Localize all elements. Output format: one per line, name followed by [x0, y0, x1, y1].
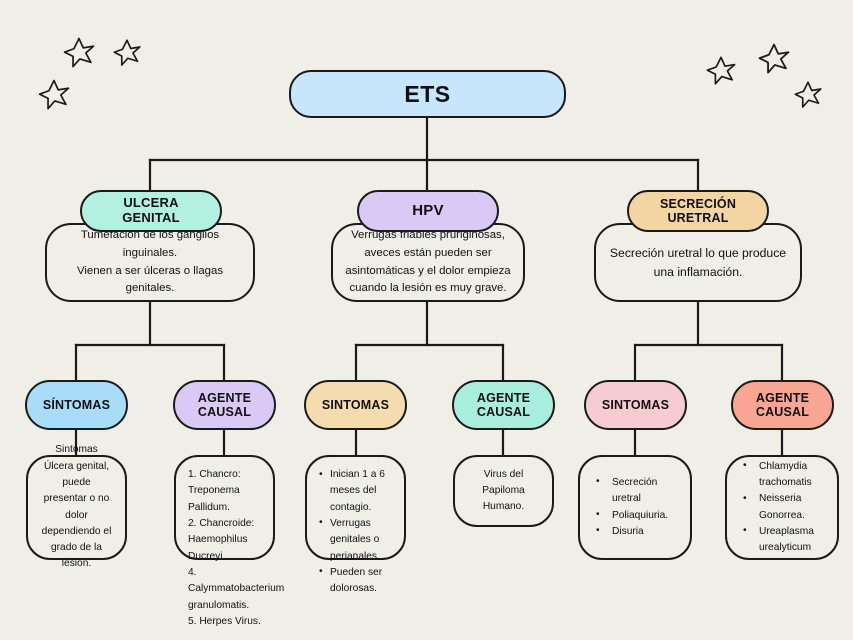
list-item: Verrugas genitales o perianales. [319, 516, 392, 565]
child-node-sintomas-hpv[interactable]: SINTOMAS [304, 380, 407, 430]
detail-box-sintomas-hpv: Inician 1 a 6 meses del contagio. Verrug… [305, 455, 406, 560]
child-node-label: AGENTE CAUSAL [756, 391, 809, 420]
branch-node-secrecion-uretral[interactable]: SECRECIÓN URETRAL [627, 190, 769, 232]
mindmap-canvas: ETS Tumefación de los ganglios inguinale… [0, 0, 853, 640]
star-outline-icon [793, 80, 823, 110]
detail-box-agente-causal-secrecion: Chlamydia trachomatis Neisseria Gonorrea… [725, 455, 839, 560]
list-item: Secreción uretral [592, 475, 678, 508]
child-node-sintomas-secrecion[interactable]: SINTOMAS [584, 380, 687, 430]
child-node-label: AGENTE CAUSAL [198, 391, 251, 420]
branch-node-hpv[interactable]: HPV [357, 190, 499, 232]
branch-node-ulcera-genital[interactable]: ULCERA GENITAL [80, 190, 222, 232]
detail-box-agente-causal-ulcera: 1. Chancro: Treponema Pallidum. 2. Chanc… [174, 455, 275, 560]
child-node-agente-causal-hpv[interactable]: AGENTE CAUSAL [452, 380, 555, 430]
star-outline-icon [62, 36, 96, 70]
detail-box-agente-causal-hpv: Virus del Papiloma Humano. [453, 455, 554, 527]
list-item: 5. Herpes Virus. [188, 614, 261, 630]
list-item: Poliaquiuria. [592, 508, 678, 524]
list-item: 1. Chancro: Treponema Pallidum. [188, 467, 261, 516]
star-outline-icon [705, 55, 737, 87]
list-item: Disuria [592, 524, 678, 540]
branch-description-text: Verrugas friables pruriginosas, aveces e… [345, 227, 511, 298]
branch-node-label: ULCERA GENITAL [122, 196, 180, 226]
root-node-ets[interactable]: ETS [289, 70, 566, 118]
agent-list-ulcera: 1. Chancro: Treponema Pallidum. 2. Chanc… [188, 467, 261, 630]
child-node-label: SÍNTOMAS [43, 398, 110, 412]
child-node-label: SINTOMAS [322, 398, 389, 412]
detail-box-sintomas-ulcera: Sintomas Úlcera genital, puede presentar… [26, 455, 127, 560]
star-outline-icon [37, 78, 71, 112]
child-node-sintomas-ulcera[interactable]: SÍNTOMAS [25, 380, 128, 430]
list-item: Pueden ser dolorosas. [319, 565, 392, 598]
list-item: Neisseria Gonorrea. [739, 491, 825, 524]
symptom-list-secrecion: Secreción uretral Poliaquiuria. Disuria [592, 475, 678, 540]
child-node-label: SINTOMAS [602, 398, 669, 412]
branch-description-secrecion-uretral: Secreción uretral lo que produce una inf… [594, 223, 802, 302]
detail-text: Sintomas Úlcera genital, puede presentar… [42, 444, 112, 569]
root-node-label: ETS [404, 81, 450, 108]
star-outline-icon [757, 42, 791, 76]
branch-node-label: SECRECIÓN URETRAL [660, 197, 736, 226]
detail-box-sintomas-secrecion: Secreción uretral Poliaquiuria. Disuria [578, 455, 692, 560]
branch-description-text: Tumefación de los ganglios inguinales. V… [59, 227, 241, 298]
branch-node-label: HPV [412, 202, 443, 219]
detail-text: Virus del Papiloma Humano. [482, 469, 524, 513]
list-item: Chlamydia trachomatis [739, 459, 825, 492]
child-node-agente-causal-ulcera[interactable]: AGENTE CAUSAL [173, 380, 276, 430]
star-outline-icon [112, 38, 142, 68]
list-item: 2. Chancroide: Haemophilus Ducreyi [188, 516, 261, 565]
child-node-agente-causal-secrecion[interactable]: AGENTE CAUSAL [731, 380, 834, 430]
agent-list-secrecion: Chlamydia trachomatis Neisseria Gonorrea… [739, 459, 825, 557]
branch-description-ulcera-genital: Tumefación de los ganglios inguinales. V… [45, 223, 255, 302]
list-item: Inician 1 a 6 meses del contagio. [319, 467, 392, 516]
list-item: Ureaplasma urealyticum [739, 524, 825, 557]
symptom-list-hpv: Inician 1 a 6 meses del contagio. Verrug… [319, 467, 392, 598]
branch-description-text: Secreción uretral lo que produce una inf… [608, 244, 788, 282]
branch-description-hpv: Verrugas friables pruriginosas, aveces e… [331, 223, 525, 302]
child-node-label: AGENTE CAUSAL [477, 391, 530, 420]
list-item: 4. Calymmatobacterium granulomatis. [188, 565, 261, 614]
